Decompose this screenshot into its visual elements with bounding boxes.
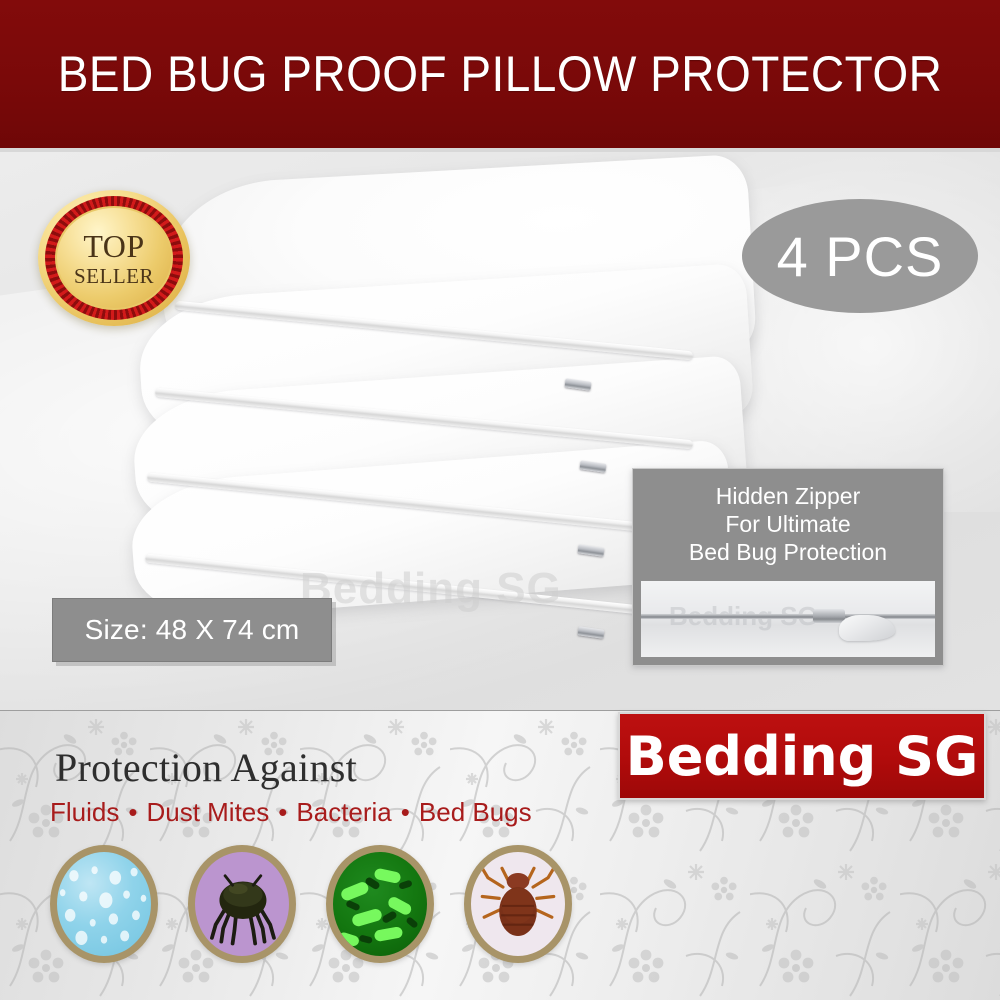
protection-items-list: Fluids•Dust Mites•Bacteria•Bed Bugs: [50, 797, 532, 828]
quantity-badge-label: 4 PCS: [777, 224, 944, 289]
product-banner: BED BUG PROOF PILLOW PROTECTOR Bedding S…: [0, 0, 1000, 1000]
badge-sub-label: SELLER: [74, 266, 154, 287]
zipper-slider-icon: [813, 609, 845, 623]
page-title: BED BUG PROOF PILLOW PROTECTOR: [40, 0, 960, 148]
hidden-zipper-panel: Hidden Zipper For Ultimate Bed Bug Prote…: [632, 468, 944, 666]
protection-item-label: Fluids: [50, 797, 119, 827]
bullet-separator-icon: •: [119, 797, 146, 827]
bed-bug-icon: [464, 845, 572, 963]
zipper-pull-icon: [578, 626, 605, 639]
size-box-label: Size: 48 X 74 cm: [85, 614, 300, 646]
hidden-zipper-line-1: Hidden Zipper: [716, 482, 860, 510]
badge-top-label: TOP: [83, 230, 144, 262]
water-droplets-icon: [50, 845, 158, 963]
protection-item-label: Bacteria: [296, 797, 391, 827]
zipper-pull-tab-icon: [839, 615, 895, 641]
size-box: Size: 48 X 74 cm: [52, 598, 332, 662]
protection-item-label: Dust Mites: [146, 797, 269, 827]
bacteria-icon: [326, 845, 434, 963]
dust-mite-icon: [188, 845, 296, 963]
zipper-closeup-photo: Bedding SG: [641, 581, 935, 657]
protection-item-label: Bed Bugs: [419, 797, 532, 827]
brand-logo-text: Bedding SG: [626, 725, 979, 788]
protection-heading: Protection Against: [55, 744, 357, 791]
zipper-track: [641, 614, 935, 619]
top-seller-badge: TOP SELLER: [38, 190, 190, 326]
badge-face: TOP SELLER: [55, 206, 173, 310]
protection-icons: [48, 843, 568, 968]
header-banner: BED BUG PROOF PILLOW PROTECTOR: [0, 0, 1000, 148]
bullet-separator-icon: •: [392, 797, 419, 827]
brand-logo: Bedding SG: [618, 712, 986, 800]
hidden-zipper-caption: Hidden Zipper For Ultimate Bed Bug Prote…: [633, 469, 943, 579]
bullet-separator-icon: •: [269, 797, 296, 827]
quantity-badge: 4 PCS: [742, 199, 978, 313]
hidden-zipper-line-2: For Ultimate: [725, 510, 850, 538]
hidden-zipper-line-3: Bed Bug Protection: [689, 538, 887, 566]
